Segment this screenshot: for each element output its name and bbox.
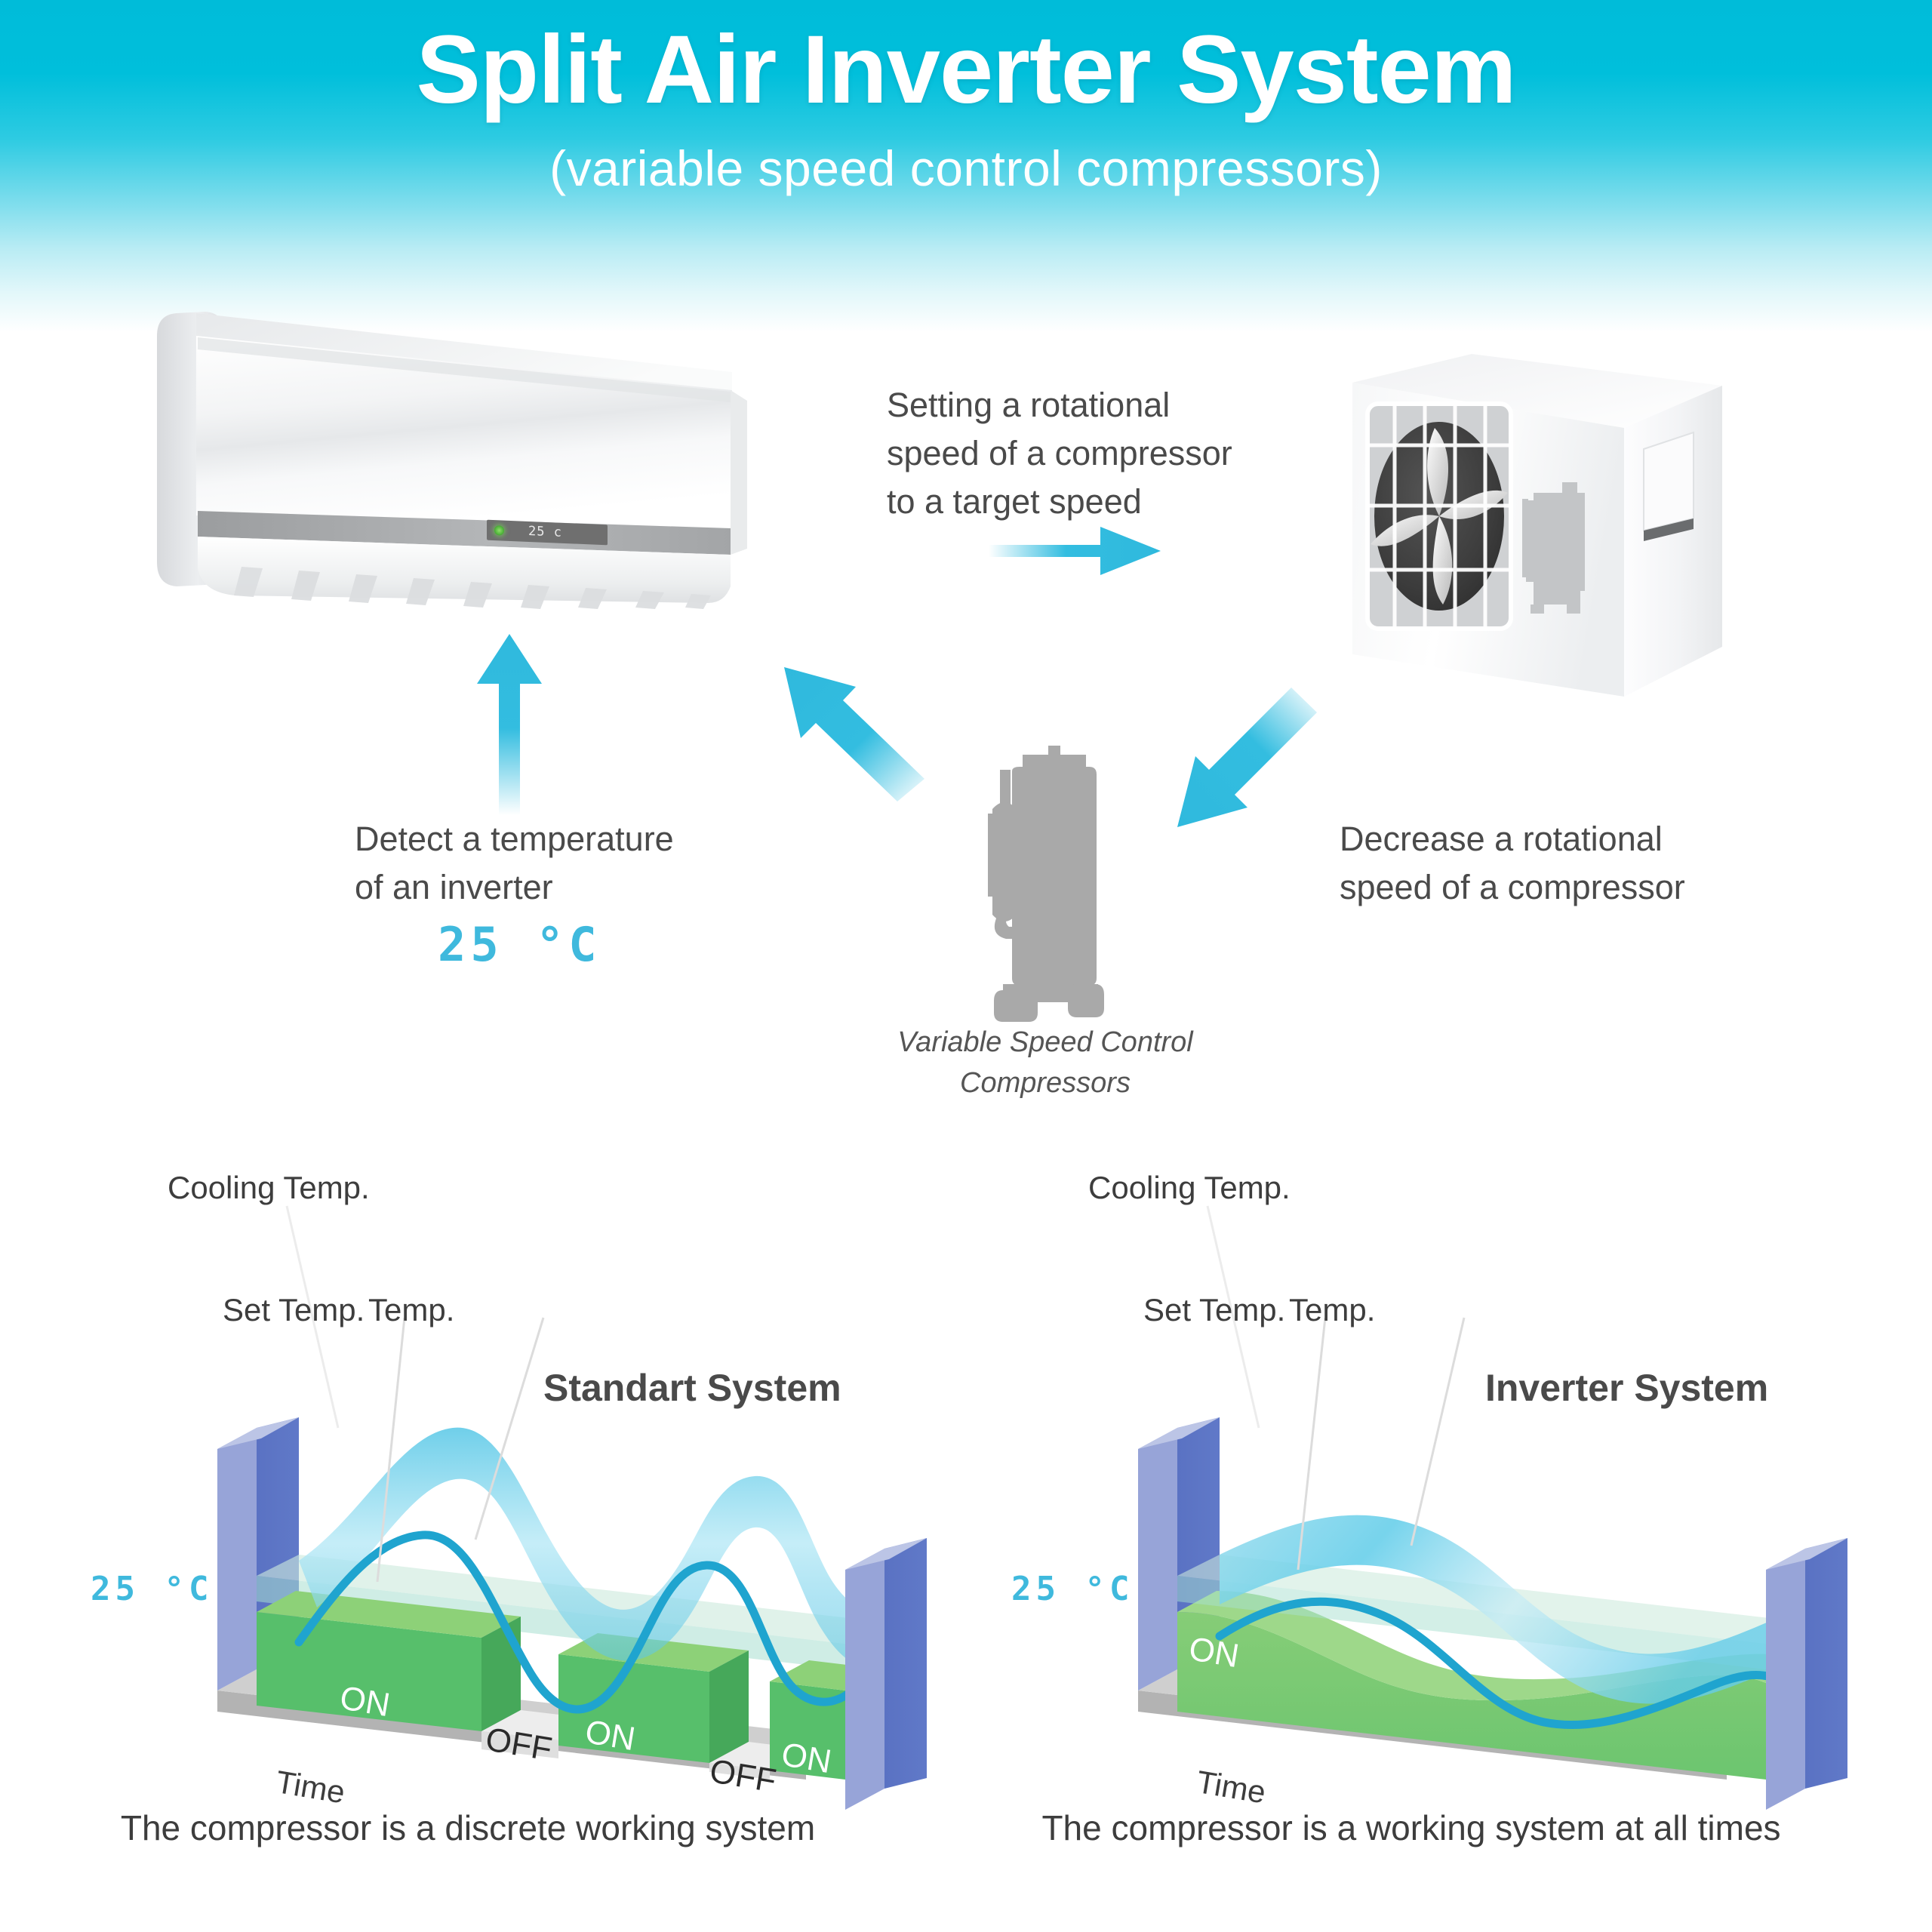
arrow-down-left-to-compressor — [1162, 687, 1328, 834]
chart1-block-label-on-2: ON — [583, 1713, 638, 1758]
leader-temp — [1411, 1318, 1464, 1546]
chart2-block-label-on: ON — [1186, 1630, 1241, 1675]
left-wall-side — [1138, 1428, 1177, 1690]
power-led-icon — [494, 525, 504, 536]
right-wall-side — [1766, 1549, 1805, 1810]
arrow-up-left-to-indoor — [766, 657, 940, 811]
right-wall-side — [845, 1549, 884, 1810]
variable-speed-compressor-graphic — [947, 724, 1143, 1026]
chart2-ylabel: Cooling Temp. — [1088, 1170, 1291, 1206]
chart1-block-label-on-3: ON — [779, 1736, 834, 1781]
compressor-foot-right — [1068, 984, 1104, 1017]
detected-temperature-value: 25 °C — [438, 917, 601, 972]
side-label-plate — [1644, 432, 1694, 531]
right-wall-face — [1805, 1538, 1847, 1789]
ac-display-value: 25 c — [528, 524, 562, 540]
right-wall-face — [884, 1538, 927, 1789]
compressor-accumulator — [992, 802, 1017, 921]
chart1-annotation-set-temp: Set Temp. — [223, 1292, 365, 1328]
chart1-ylabel: Cooling Temp. — [168, 1170, 370, 1206]
caption-inverter-system: The compressor is a working system at al… — [943, 1807, 1879, 1848]
chart-standart-system: Cooling Temp. Set Temp. Temp. Standart S… — [151, 1162, 1026, 1811]
chart1-block-label-on-1: ON — [337, 1679, 392, 1724]
chart2-title: Inverter System — [1485, 1366, 1768, 1410]
compressor-side-rail — [988, 814, 994, 897]
compressor-inlet-pipe — [992, 838, 1029, 853]
label-detect-temperature: Detect a temperature of an inverter — [355, 815, 777, 912]
chart1-set-temp-value: 25 °C — [91, 1570, 213, 1608]
caption-standart-system: The compressor is a discrete working sys… — [0, 1807, 936, 1848]
left-wall-side — [217, 1428, 257, 1690]
indoor-split-unit: 25 c — [151, 306, 777, 638]
compressor-foot-left — [994, 990, 1038, 1022]
page-subtitle: (variable speed control compressors) — [0, 140, 1932, 197]
chart2-annotation-set-temp: Set Temp. — [1143, 1292, 1285, 1328]
chart2-set-temp-value: 25 °C — [1011, 1570, 1134, 1608]
chart2-annotation-temp: Temp. — [1289, 1292, 1375, 1328]
outdoor-side-face — [1624, 386, 1722, 697]
compressor-caption: Variable Speed Control Compressors — [864, 1023, 1226, 1104]
infographic-canvas: Split Air Inverter System (variable spee… — [0, 0, 1932, 1932]
chart-inverter-system: Cooling Temp. Set Temp. Temp. Inverter S… — [1072, 1162, 1932, 1811]
label-setting-speed: Setting a rotational speed of a compress… — [887, 381, 1279, 526]
page-title: Split Air Inverter System — [0, 21, 1932, 120]
label-decrease-speed: Decrease a rotational speed of a compres… — [1340, 815, 1762, 912]
chart1-annotation-temp: Temp. — [368, 1292, 454, 1328]
chart1-title: Standart System — [543, 1366, 841, 1410]
compressor-outlet-pipe — [992, 864, 1029, 879]
arrow-up-to-indoor — [468, 634, 551, 819]
outdoor-condenser-unit — [1336, 343, 1819, 721]
